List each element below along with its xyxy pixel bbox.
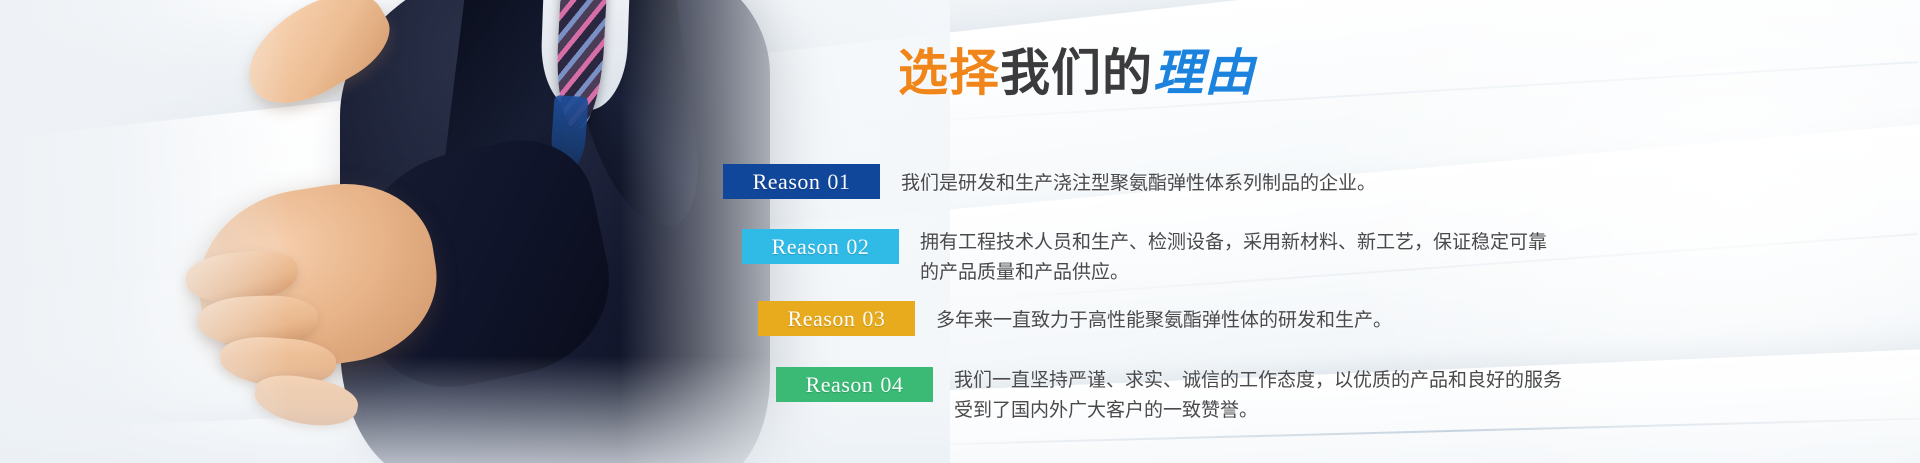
reason-line-1: 多年来一直致力于高性能聚氨酯弹性体的研发和生产。 [936,309,1392,331]
reason-line-2: 受到了国内外广大客户的一致赞誉。 [954,395,1562,425]
reason-badge-01[interactable]: Reason 01 [723,164,880,199]
page-title: 选择我们的理由 [898,46,1255,101]
title-segment-reason: 理由 [1153,45,1255,101]
badge-number: 02 [846,234,869,260]
reason-description-2: 拥有工程技术人员和生产、检测设备，采用新材料、新工艺，保证稳定可靠 的产品质量和… [920,227,1547,287]
reason-badge-02[interactable]: Reason 02 [742,229,899,264]
reason-line-2: 的产品质量和产品供应。 [920,257,1547,287]
badge-word: Reason [772,234,840,260]
badge-number: 03 [862,306,885,332]
badge-number: 04 [880,372,903,398]
reason-badge-04[interactable]: Reason 04 [776,367,933,402]
reason-badge-03[interactable]: Reason 03 [758,301,915,336]
reason-description-3: 多年来一直致力于高性能聚氨酯弹性体的研发和生产。 [936,305,1392,335]
reason-row-2: Reason 02 拥有工程技术人员和生产、检测设备，采用新材料、新工艺，保证稳… [742,229,1547,287]
badge-word: Reason [788,306,856,332]
reason-line-1: 我们一直坚持严谨、求实、诚信的工作态度，以优质的产品和良好的服务 [954,369,1562,391]
reason-row-3: Reason 03 多年来一直致力于高性能聚氨酯弹性体的研发和生产。 [758,301,1392,336]
reason-line-1: 拥有工程技术人员和生产、检测设备，采用新材料、新工艺，保证稳定可靠 [920,231,1547,253]
reason-description-4: 我们一直坚持严谨、求实、诚信的工作态度，以优质的产品和良好的服务 受到了国内外广… [954,365,1562,425]
banner-content: 选择我们的理由 Reason 01 我们是研发和生产浇注型聚氨酯弹性体系列制品的… [0,0,1920,463]
title-segment-choose: 选择 [898,45,1000,101]
reason-line-1: 我们是研发和生产浇注型聚氨酯弹性体系列制品的企业。 [901,172,1376,194]
badge-number: 01 [827,169,850,195]
reason-row-4: Reason 04 我们一直坚持严谨、求实、诚信的工作态度，以优质的产品和良好的… [776,367,1562,425]
reason-row-1: Reason 01 我们是研发和生产浇注型聚氨酯弹性体系列制品的企业。 [723,164,1376,199]
badge-word: Reason [753,169,821,195]
badge-word: Reason [806,372,874,398]
title-segment-our: 我们的 [1000,45,1153,101]
reason-description-1: 我们是研发和生产浇注型聚氨酯弹性体系列制品的企业。 [901,168,1376,198]
company-reasons-banner: 选择我们的理由 Reason 01 我们是研发和生产浇注型聚氨酯弹性体系列制品的… [0,0,1920,463]
